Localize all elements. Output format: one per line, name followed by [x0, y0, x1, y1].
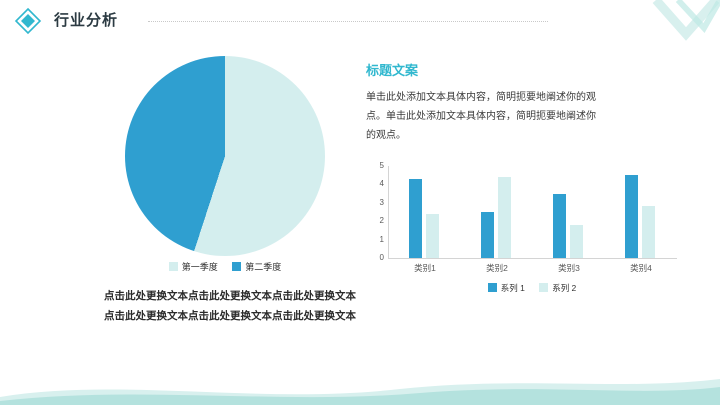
bar — [625, 175, 638, 258]
pie-legend: 第一季度 第二季度 — [80, 260, 370, 273]
footer-decoration — [0, 371, 720, 405]
pie-chart — [125, 56, 325, 256]
bar-chart-plot: 类别1类别2类别3类别4 — [388, 166, 677, 259]
y-axis-tick: 1 — [366, 235, 384, 244]
section-body: 单击此处添加文本具体内容，简明扼要地阐述你的观点。单击此处添加文本具体内容，简明… — [366, 88, 598, 145]
y-axis-tick: 5 — [366, 161, 384, 170]
legend-swatch — [232, 262, 241, 271]
pie-caption: 点击此处更换文本点击此处更换文本点击此处更换文本 点击此处更换文本点击此处更换文… — [60, 286, 400, 326]
legend-item: 第一季度 — [169, 260, 218, 273]
x-axis-label: 类别4 — [611, 262, 671, 274]
bar — [426, 214, 439, 258]
bar — [553, 194, 566, 258]
bar-group: 类别3 — [533, 166, 605, 258]
diamond-icon — [14, 7, 42, 35]
x-axis-label: 类别2 — [467, 262, 527, 274]
y-axis-tick: 2 — [366, 216, 384, 225]
chevron-decoration-icon — [600, 0, 720, 62]
page-title: 行业分析 — [54, 9, 118, 30]
bar-group: 类别1 — [389, 166, 461, 258]
y-axis-tick: 0 — [366, 253, 384, 262]
right-text-block: 标题文案 单击此处添加文本具体内容，简明扼要地阐述你的观点。单击此处添加文本具体… — [366, 60, 696, 145]
legend-label: 系列 2 — [552, 283, 576, 293]
legend-label: 系列 1 — [501, 283, 525, 293]
legend-swatch — [539, 283, 548, 292]
bar — [481, 212, 494, 258]
x-axis-label: 类别1 — [395, 262, 455, 274]
section-title: 标题文案 — [366, 60, 696, 79]
pie-caption-line-1: 点击此处更换文本点击此处更换文本点击此处更换文本 — [60, 286, 400, 306]
legend-swatch — [488, 283, 497, 292]
x-axis-label: 类别3 — [539, 262, 599, 274]
bar — [570, 225, 583, 258]
legend-item: 系列 2 — [539, 282, 576, 294]
bar-group: 类别2 — [461, 166, 533, 258]
pie-caption-line-2: 点击此处更换文本点击此处更换文本点击此处更换文本 — [60, 306, 400, 326]
y-axis: 012345 — [366, 166, 386, 258]
legend-label: 第一季度 — [182, 262, 218, 272]
legend-swatch — [169, 262, 178, 271]
legend-item: 系列 1 — [488, 282, 525, 294]
bar-chart-section: 012345 类别1类别2类别3类别4 系列 1 系列 2 — [366, 166, 686, 306]
legend-item: 第二季度 — [232, 260, 281, 273]
bar — [498, 177, 511, 258]
y-axis-tick: 4 — [366, 179, 384, 188]
header-divider — [148, 21, 548, 23]
bar-legend: 系列 1 系列 2 — [388, 282, 676, 294]
bar-group: 类别4 — [605, 166, 677, 258]
bar — [409, 179, 422, 258]
y-axis-tick: 3 — [366, 198, 384, 207]
legend-label: 第二季度 — [245, 262, 281, 272]
bar — [642, 206, 655, 258]
